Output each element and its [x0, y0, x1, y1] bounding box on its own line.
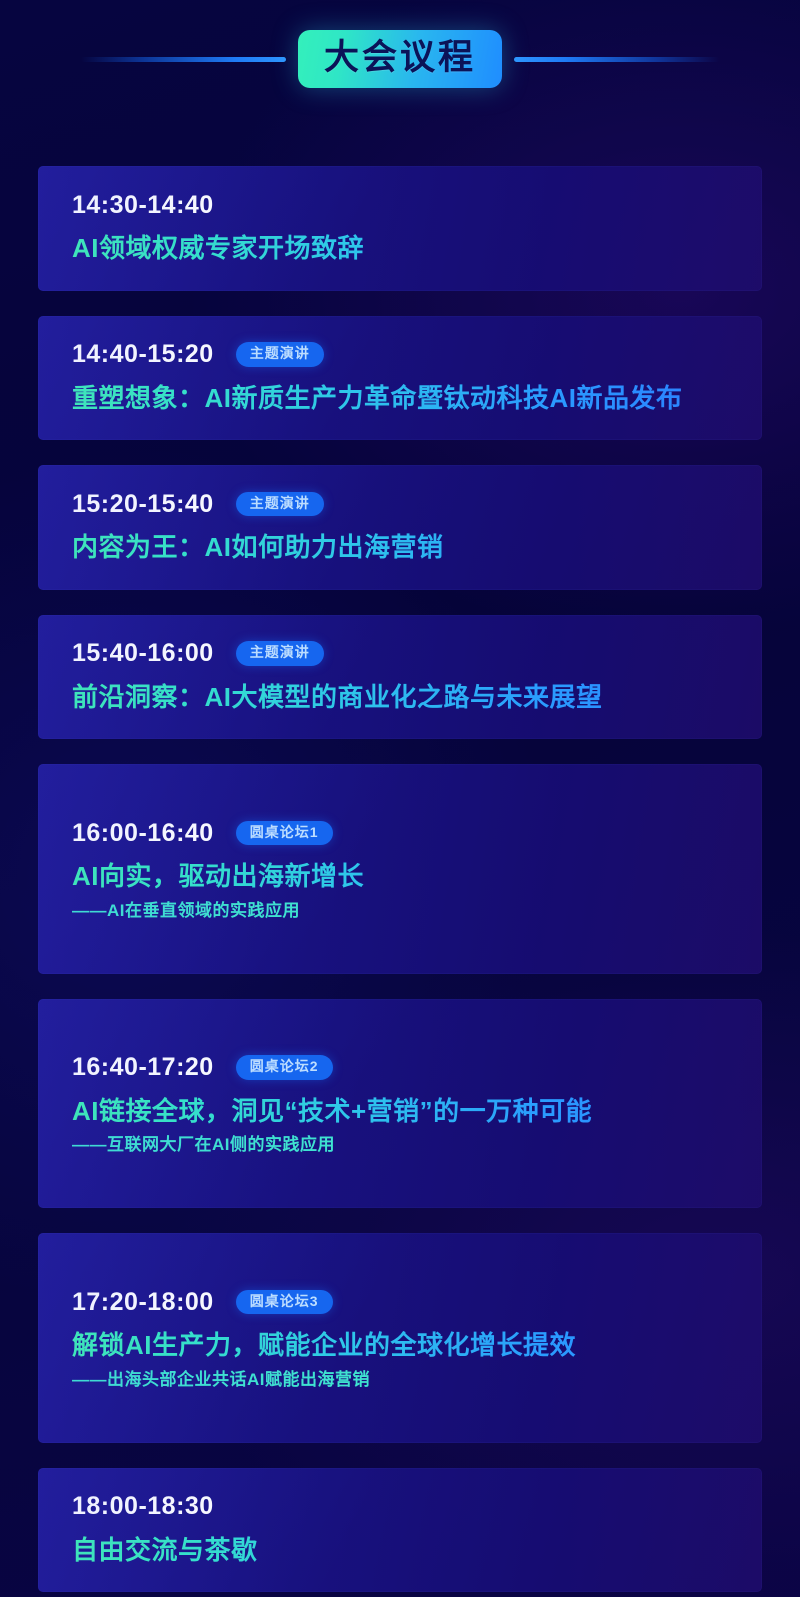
agenda-item[interactable]: 16:00-16:40 圆桌论坛1 AI向实，驱动出海新增长 ——AI在垂直领域… — [38, 764, 762, 974]
agenda-item-tag: 主题演讲 — [236, 492, 324, 516]
agenda-item-tag: 圆桌论坛2 — [236, 1055, 333, 1079]
agenda-item[interactable]: 14:30-14:40 AI领域权威专家开场致辞 — [38, 166, 762, 291]
agenda-item[interactable]: 14:40-15:20 主题演讲 重塑想象：AI新质生产力革命暨钛动科技AI新品… — [38, 316, 762, 441]
header-rule-left-icon — [81, 57, 286, 62]
agenda-item-subtitle: ——AI在垂直领域的实践应用 — [72, 900, 728, 922]
agenda-item-tag: 圆桌论坛3 — [236, 1290, 333, 1314]
agenda-item-header: 16:00-16:40 圆桌论坛1 — [72, 818, 728, 848]
agenda-item-time: 15:40-16:00 — [72, 641, 214, 666]
agenda-item-tag: 圆桌论坛1 — [236, 821, 333, 845]
agenda-item-header: 15:20-15:40 主题演讲 — [72, 489, 728, 519]
agenda-item[interactable]: 18:00-18:30 自由交流与茶歇 — [38, 1468, 762, 1593]
agenda-item-title: 内容为王：AI如何助力出海营销 — [72, 531, 728, 564]
agenda-item-header: 14:40-15:20 主题演讲 — [72, 340, 728, 370]
agenda-item-tag: 主题演讲 — [236, 342, 324, 366]
agenda-item-time: 18:00-18:30 — [72, 1494, 214, 1519]
agenda-item-title: AI向实，驱动出海新增长 — [72, 860, 728, 893]
agenda-item-time: 15:20-15:40 — [72, 492, 214, 517]
agenda-poster: 大会议程 14:30-14:40 AI领域权威专家开场致辞 14:40-15:2… — [0, 0, 800, 1597]
agenda-item[interactable]: 17:20-18:00 圆桌论坛3 解锁AI生产力，赋能企业的全球化增长提效 —… — [38, 1233, 762, 1443]
agenda-item-header: 15:40-16:00 主题演讲 — [72, 639, 728, 669]
agenda-item-title: 重塑想象：AI新质生产力革命暨钛动科技AI新品发布 — [72, 382, 728, 415]
agenda-item[interactable]: 15:20-15:40 主题演讲 内容为王：AI如何助力出海营销 — [38, 465, 762, 590]
agenda-item-header: 17:20-18:00 圆桌论坛3 — [72, 1287, 728, 1317]
agenda-item-title: 解锁AI生产力，赋能企业的全球化增长提效 — [72, 1329, 728, 1362]
agenda-item-time: 14:40-15:20 — [72, 342, 214, 367]
agenda-item-title: AI领域权威专家开场致辞 — [72, 232, 728, 265]
agenda-item-title: 自由交流与茶歇 — [72, 1534, 728, 1567]
agenda-item-header: 14:30-14:40 — [72, 190, 728, 220]
poster-header: 大会议程 — [0, 0, 800, 118]
agenda-item-header: 18:00-18:30 — [72, 1492, 728, 1522]
agenda-item-title: AI链接全球，洞见“技术+营销”的一万种可能 — [72, 1095, 728, 1128]
agenda-item[interactable]: 16:40-17:20 圆桌论坛2 AI链接全球，洞见“技术+营销”的一万种可能… — [38, 999, 762, 1209]
agenda-item-subtitle: ——出海头部企业共话AI赋能出海营销 — [72, 1369, 728, 1391]
agenda-item-title: 前沿洞察：AI大模型的商业化之路与未来展望 — [72, 681, 728, 714]
agenda-item-time: 17:20-18:00 — [72, 1290, 214, 1315]
agenda-item-header: 16:40-17:20 圆桌论坛2 — [72, 1053, 728, 1083]
agenda-list: 14:30-14:40 AI领域权威专家开场致辞 14:40-15:20 主题演… — [0, 118, 800, 1592]
page-title-badge: 大会议程 — [298, 30, 502, 88]
agenda-item-time: 16:40-17:20 — [72, 1055, 214, 1080]
agenda-item[interactable]: 15:40-16:00 主题演讲 前沿洞察：AI大模型的商业化之路与未来展望 — [38, 615, 762, 740]
agenda-item-time: 16:00-16:40 — [72, 821, 214, 846]
agenda-item-subtitle: ——互联网大厂在AI侧的实践应用 — [72, 1134, 728, 1156]
agenda-item-time: 14:30-14:40 — [72, 193, 214, 218]
agenda-item-tag: 主题演讲 — [236, 641, 324, 665]
page-title: 大会议程 — [324, 40, 476, 75]
header-rule-right-icon — [514, 57, 719, 62]
